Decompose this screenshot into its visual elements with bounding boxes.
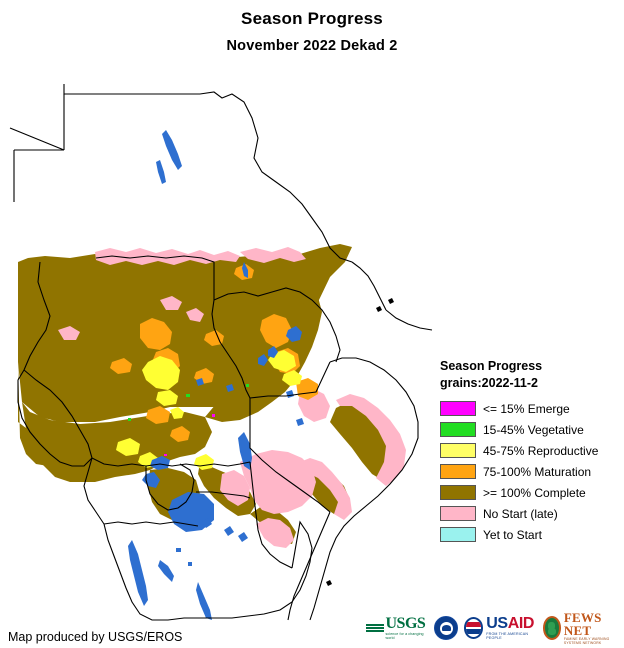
season-progress-map[interactable] <box>0 62 470 622</box>
legend-swatch-vegetative <box>440 422 476 437</box>
legend-title-line1: Season Progress <box>440 358 624 375</box>
map-legend: Season Progress grains:2022-11-2 <= 15% … <box>440 358 624 545</box>
usgs-logo: USGS science for a changing world <box>366 613 428 643</box>
legend-item-no-start-late[interactable]: No Start (late) <box>440 503 624 524</box>
legend-item-reproductive[interactable]: 45-75% Reproductive <box>440 440 624 461</box>
legend-label-complete: >= 100% Complete <box>483 486 586 500</box>
legend-swatch-no-start-late <box>440 506 476 521</box>
legend-swatch-emerge <box>440 401 476 416</box>
legend-label-vegetative: 15-45% Vegetative <box>483 423 584 437</box>
page-title: Season Progress <box>0 8 624 30</box>
noaa-logo <box>434 613 458 643</box>
page-subtitle: November 2022 Dekad 2 <box>0 36 624 56</box>
legend-item-maturation[interactable]: 75-100% Maturation <box>440 461 624 482</box>
globe-icon <box>543 616 561 640</box>
legend-swatch-complete <box>440 485 476 500</box>
legend-label-reproductive: 45-75% Reproductive <box>483 444 598 458</box>
legend-label-maturation: 75-100% Maturation <box>483 465 591 479</box>
usaid-wordmark: USAID <box>486 616 536 632</box>
legend-label-yet-to-start: Yet to Start <box>483 528 542 542</box>
legend-label-emerge: <= 15% Emerge <box>483 402 570 416</box>
legend-item-complete[interactable]: >= 100% Complete <box>440 482 624 503</box>
usaid-word-part1: US <box>486 615 507 632</box>
legend-item-vegetative[interactable]: 15-45% Vegetative <box>440 419 624 440</box>
usaid-seal-icon <box>464 617 483 639</box>
map-canvas[interactable] <box>0 62 470 622</box>
usaid-logo: USAID FROM THE AMERICAN PEOPLE <box>464 613 537 643</box>
usaid-tagline: FROM THE AMERICAN PEOPLE <box>486 633 536 640</box>
legend-item-yet-to-start[interactable]: Yet to Start <box>440 524 624 545</box>
legend-swatch-yet-to-start <box>440 527 476 542</box>
logo-bar: USGS science for a changing world USAID … <box>366 612 624 644</box>
legend-title-line2: grains:2022-11-2 <box>440 375 624 392</box>
legend-label-no-start-late: No Start (late) <box>483 507 558 521</box>
noaa-seal-icon <box>434 616 458 640</box>
fews-tagline: FAMINE EARLY WARNING SYSTEMS NETWORK <box>564 638 624 645</box>
legend-item-emerge[interactable]: <= 15% Emerge <box>440 398 624 419</box>
fews-wordmark: FEWS NET <box>564 611 624 637</box>
usgs-wordmark: USGS <box>386 616 428 632</box>
usgs-tagline: science for a changing world <box>386 633 428 640</box>
legend-swatch-maturation <box>440 464 476 479</box>
map-credit: Map produced by USGS/EROS <box>8 630 182 644</box>
map-page: Season Progress November 2022 Dekad 2 <box>0 0 624 648</box>
legend-items: <= 15% Emerge 15-45% Vegetative 45-75% R… <box>440 398 624 545</box>
usaid-word-part2: AID <box>508 615 534 632</box>
usgs-wave-icon <box>366 620 384 637</box>
title-block: Season Progress November 2022 Dekad 2 <box>0 8 624 56</box>
legend-swatch-reproductive <box>440 443 476 458</box>
fews-net-logo: FEWS NET FAMINE EARLY WARNING SYSTEMS NE… <box>543 613 624 643</box>
